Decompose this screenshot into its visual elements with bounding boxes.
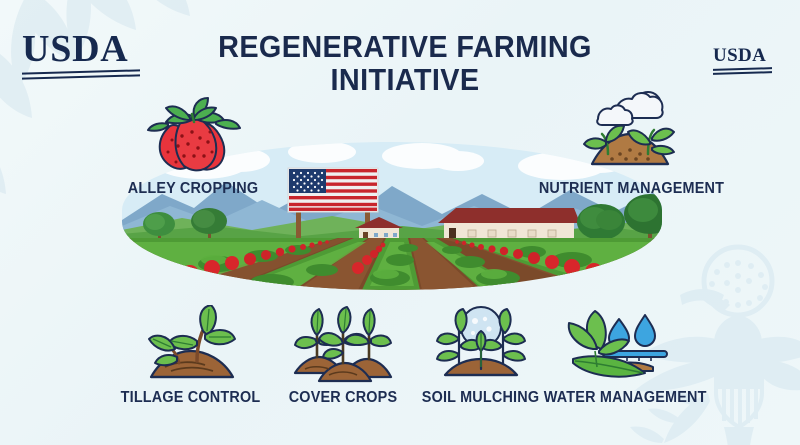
practice-card-cover-crops[interactable]: COVER CROPS <box>268 305 418 407</box>
usda-logo-right-text: USDA <box>713 46 772 65</box>
practice-label-cover-crops: COVER CROPS <box>273 389 413 407</box>
leaves-droplets-irrigation-icon <box>563 305 679 385</box>
page-title: REGENERATIVE FARMING INITIATIVE <box>177 31 633 96</box>
practice-label-tillage-control: TILLAGE CONTROL <box>114 389 267 407</box>
strawberries-icon <box>138 96 248 176</box>
practice-label-alley-cropping: ALLEY CROPPING <box>105 180 282 198</box>
clouds-soil-sprouts-icon <box>572 88 688 176</box>
practice-card-nutrient-management[interactable]: NUTRIENT MANAGEMENT <box>532 88 727 198</box>
practice-card-tillage-control[interactable]: TILLAGE CONTROL <box>108 305 273 407</box>
usda-logo-left-text: USDA <box>22 30 140 68</box>
usda-logo-right: USDA <box>713 46 772 73</box>
poster-canvas: USDA USDA REGENERATIVE FARMING INITIATIV… <box>0 0 800 445</box>
practice-label-nutrient-management: NUTRIENT MANAGEMENT <box>539 180 720 198</box>
practice-label-soil-mulching: SOIL MULCHING <box>413 389 548 407</box>
usda-logo-left-rules <box>22 71 140 78</box>
water-sphere-plants-icon <box>429 305 533 385</box>
usda-logo-left: USDA <box>22 30 140 78</box>
practice-card-soil-mulching[interactable]: SOIL MULCHING <box>408 305 553 407</box>
usda-logo-right-rules <box>713 68 772 73</box>
practice-label-water-management: WATER MANAGEMENT <box>544 389 697 407</box>
three-plants-icon <box>291 305 395 385</box>
seedling-soil-icon <box>139 305 243 385</box>
practice-card-alley-cropping[interactable]: ALLEY CROPPING <box>98 96 288 198</box>
practice-card-water-management[interactable]: WATER MANAGEMENT <box>538 305 703 407</box>
